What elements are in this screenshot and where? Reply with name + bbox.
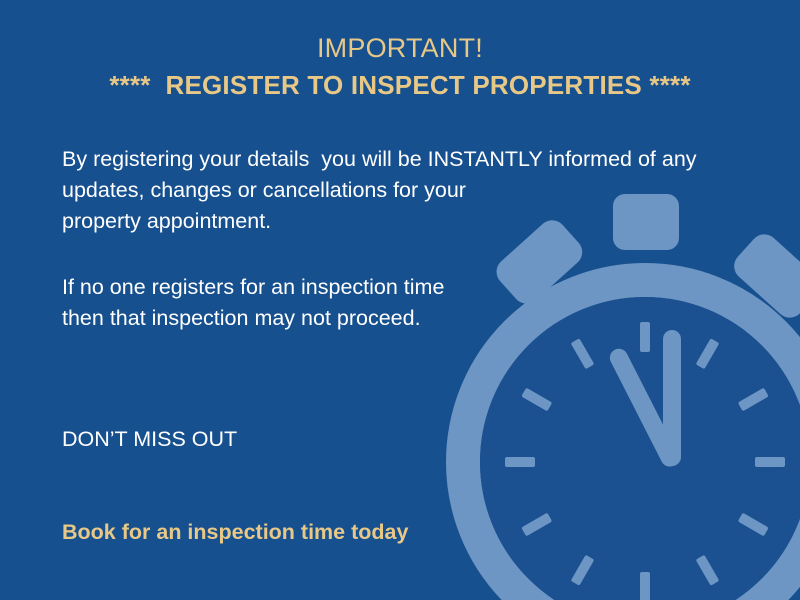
title-block: IMPORTANT! **** REGISTER TO INSPECT PROP… bbox=[0, 30, 800, 104]
cta-action-line-1: Book for an inspection time today bbox=[62, 517, 582, 548]
slide-canvas: IMPORTANT! **** REGISTER TO INSPECT PROP… bbox=[0, 0, 800, 600]
slide-content: IMPORTANT! **** REGISTER TO INSPECT PROP… bbox=[0, 0, 800, 600]
call-to-action-block: DON’T MISS OUT Book for an inspection ti… bbox=[62, 362, 582, 600]
body-paragraph-no-registrations: If no one registers for an inspection ti… bbox=[62, 272, 582, 334]
body-paragraph-registering: By registering your details you will be … bbox=[62, 144, 722, 237]
cta-headline: DON’T MISS OUT bbox=[62, 424, 582, 455]
page-title-primary: IMPORTANT! bbox=[0, 30, 800, 66]
page-title-secondary: **** REGISTER TO INSPECT PROPERTIES **** bbox=[0, 66, 800, 104]
